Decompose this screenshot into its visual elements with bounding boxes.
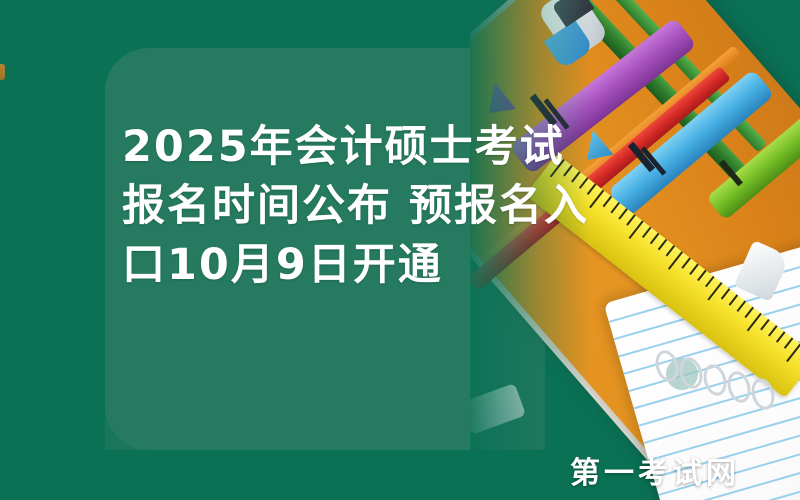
left-edge-speck	[0, 64, 5, 80]
white-eraser-icon	[470, 383, 526, 435]
site-watermark: 第一考试网	[570, 448, 740, 492]
headline-title: 2025年会计硕士考试报名时间公布 预报名入口10月9日开通	[122, 118, 592, 295]
article-thumbnail-banner: 2025年会计硕士考试报名时间公布 预报名入口10月9日开通 第一考试网	[0, 0, 800, 500]
